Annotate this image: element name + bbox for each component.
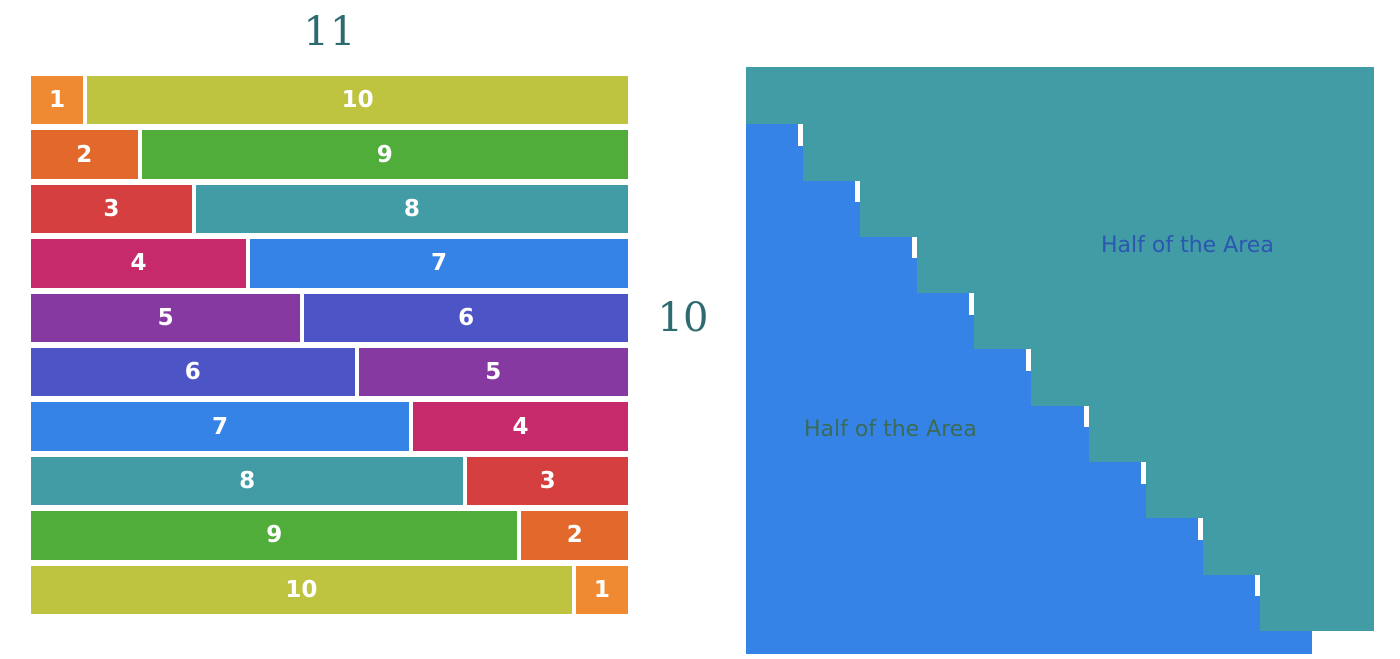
teal-area-label: Half of the Area [1101,235,1274,257]
bar-cell-right: 3 [467,457,628,505]
teal-step [1089,405,1374,462]
bar-cell-left: 3 [31,185,192,233]
bar-row: 83 [31,457,628,505]
teal-step [974,292,1374,349]
left-diagram: 11 10 1102938475665748392101 [0,0,700,659]
half-area-square: Half of the Area Half of the Area [746,67,1374,630]
bar-cell-left: 4 [31,239,246,287]
bar-cell-right: 1 [576,566,628,614]
bar-cell-left: 6 [31,348,355,396]
bar-cell-right: 7 [250,239,628,287]
blue-area-label: Half of the Area [804,419,977,441]
bar-row: 92 [31,511,628,559]
bar-cell-left: 9 [31,511,517,559]
bar-row: 38 [31,185,628,233]
right-diagram: Half of the Area Half of the Area [700,0,1400,659]
teal-step [803,123,1374,180]
bar-cell-left: 7 [31,402,409,450]
bar-row: 47 [31,239,628,287]
bar-cell-right: 5 [359,348,628,396]
bar-cell-right: 6 [304,294,628,342]
bar-cell-right: 10 [87,76,628,124]
bar-row: 29 [31,130,628,178]
teal-step [1146,461,1374,518]
blue-step [746,540,1255,597]
width-label: 11 [0,12,660,52]
bar-cell-left: 8 [31,457,463,505]
stacked-bar-group: 1102938475665748392101 [31,76,628,620]
bar-row: 110 [31,76,628,124]
bar-cell-right: 9 [142,130,628,178]
bar-cell-right: 4 [413,402,628,450]
bar-cell-left: 2 [31,130,138,178]
teal-step [1260,574,1374,631]
bar-cell-left: 5 [31,294,300,342]
teal-step [1203,517,1374,574]
bar-cell-left: 1 [31,76,83,124]
bar-row: 65 [31,348,628,396]
bar-row: 56 [31,294,628,342]
blue-step [746,484,1198,541]
figure-canvas: 11 10 1102938475665748392101 Half of the… [0,0,1400,659]
teal-step [746,67,1374,124]
teal-step [1031,349,1374,406]
bar-cell-right: 8 [196,185,628,233]
blue-step [746,596,1312,653]
teal-step [860,180,1374,237]
bar-cell-right: 2 [521,511,628,559]
bar-row: 101 [31,566,628,614]
bar-cell-left: 10 [31,566,572,614]
bar-row: 74 [31,402,628,450]
